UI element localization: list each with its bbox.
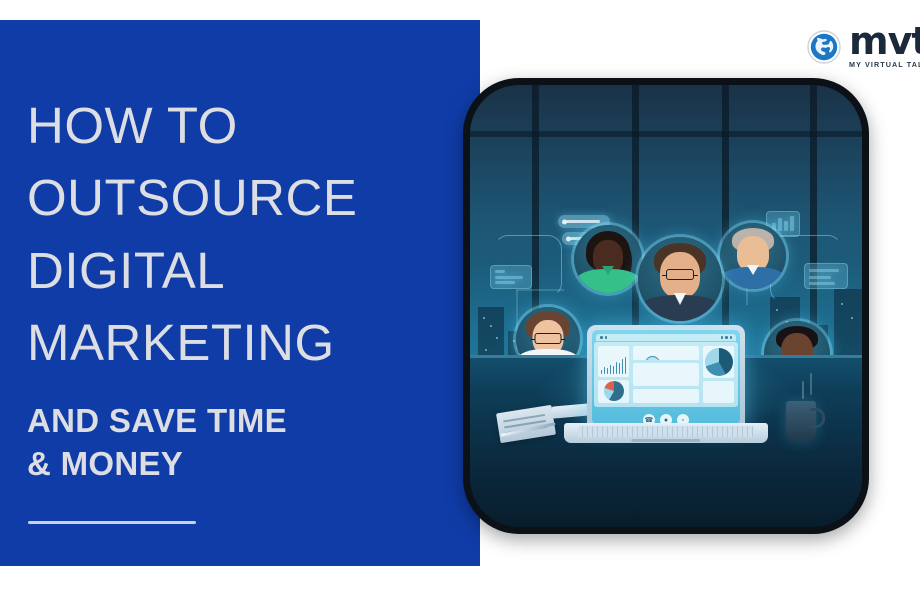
- headline-line-4: MARKETING: [27, 307, 457, 379]
- donut-chart: [703, 346, 734, 378]
- logo-text-group: mvt MY VIRTUAL TALENT: [849, 23, 920, 69]
- stat-tiles-right: [703, 381, 734, 403]
- page-subtitle: AND SAVE TIME & MONEY: [27, 400, 457, 486]
- brand-logo[interactable]: mvt MY VIRTUAL TALENT: [806, 24, 920, 70]
- analytics-dashboard: ☎ ● ▫: [592, 330, 740, 424]
- laptop-keyboard: [578, 426, 753, 437]
- dashboard-titlebar: [596, 334, 736, 341]
- logo-wordmark: mvt: [849, 19, 920, 63]
- subheadline-line-2: & MONEY: [27, 443, 457, 486]
- title-divider: [28, 521, 196, 524]
- avatar-man-glasses-beard: [638, 237, 722, 321]
- laptop-trackpad: [631, 439, 700, 442]
- office-scene: ☎ ● ▫: [470, 85, 862, 527]
- dashboard-col-right: [703, 346, 734, 403]
- poster-canvas: HOW TO OUTSOURCE DIGITAL MARKETING AND S…: [0, 0, 920, 590]
- laptop: ☎ ● ▫: [561, 325, 771, 453]
- dashboard-col-left: [598, 346, 629, 403]
- avatar-man-blue-suit: [720, 223, 786, 289]
- steam: [802, 381, 804, 399]
- stat-chip-left: [490, 265, 532, 289]
- subheadline-line-1: AND SAVE TIME: [27, 400, 457, 443]
- window-dots-right: [721, 336, 733, 339]
- coffee-mug: [786, 401, 816, 441]
- text-lines: [633, 363, 699, 386]
- bar-chart: [598, 346, 629, 377]
- info-chip-right: [804, 263, 848, 289]
- steam: [810, 373, 812, 395]
- globe-icon: [806, 29, 842, 65]
- pie-chart: [598, 380, 629, 403]
- logo-tagline: MY VIRTUAL TALENT: [849, 60, 920, 69]
- blue-title-panel: HOW TO OUTSOURCE DIGITAL MARKETING AND S…: [0, 20, 480, 566]
- page-title: HOW TO OUTSOURCE DIGITAL MARKETING: [27, 90, 457, 380]
- headline-line-2: OUTSOURCE: [27, 162, 457, 234]
- dashboard-body: [594, 342, 738, 407]
- headline-line-1: HOW TO: [27, 90, 457, 162]
- laptop-lid: ☎ ● ▫: [587, 325, 745, 429]
- illustration-card: ☎ ● ▫: [463, 78, 869, 534]
- laptop-base: [564, 423, 768, 443]
- headline-line-3: DIGITAL: [27, 235, 457, 307]
- profile-card: [633, 346, 699, 360]
- window-mullion: [470, 131, 862, 137]
- dashboard-col-mid: [633, 346, 699, 403]
- window-dots-left: [600, 336, 607, 339]
- avatar-woman-green-top: [574, 225, 642, 293]
- stat-tiles: [633, 389, 699, 403]
- bar-chart-bars: [601, 355, 626, 373]
